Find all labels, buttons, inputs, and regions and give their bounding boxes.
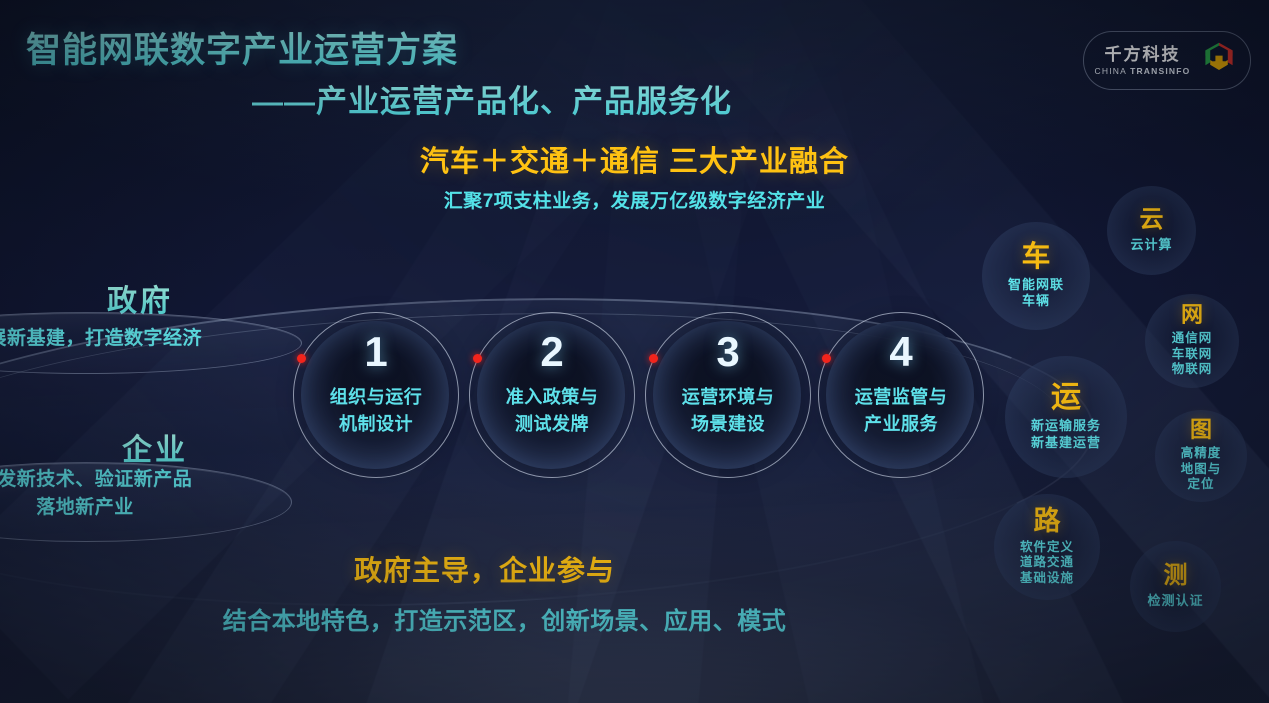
cube-logo-icon xyxy=(1199,38,1239,83)
pillar-desc-wang-line2: 车联网 xyxy=(1172,347,1213,361)
banner-headline: 汽车＋交通＋通信 三大产业融合 xyxy=(0,138,1269,180)
pill-text-enterprise-line2: 落地新产业 xyxy=(36,497,134,518)
pillar-desc-wang-line1: 通信网 xyxy=(1172,331,1213,345)
pillar-desc-tu-map-line3: 定位 xyxy=(1187,477,1214,491)
pillar-desc-tu-map-line1: 高精度 xyxy=(1181,446,1222,460)
pillar-desc-yun-transport: 新运输服务新基建运营 xyxy=(1031,418,1101,451)
pillar-desc-ce-test: 检测认证 xyxy=(1147,593,1203,609)
step-label-3: 运营环境与场景建设 xyxy=(645,384,811,438)
pillar-key-lu-road: 路 xyxy=(1034,508,1061,535)
step-label-3-line1: 运营环境与 xyxy=(682,387,775,407)
step-number-2: 2 xyxy=(469,328,635,376)
pillar-key-yun-transport: 运 xyxy=(1051,383,1081,413)
pillar-bubble-tu-map[interactable]: 图 高精度地图与定位 xyxy=(1155,410,1247,502)
pillar-desc-che: 智能网联车辆 xyxy=(1008,277,1064,310)
pillar-key-wang: 网 xyxy=(1181,304,1203,326)
pillar-bubble-yun-transport[interactable]: 运 新运输服务新基建运营 xyxy=(1005,356,1127,478)
pillar-key-ce-test: 测 xyxy=(1164,564,1188,588)
step-circle-1[interactable]: 1 组织与运行机制设计 xyxy=(293,312,459,478)
pillar-desc-yun-cloud: 云计算 xyxy=(1130,237,1172,253)
page-subtitle: ——产业运营产品化、产品服务化 xyxy=(252,76,732,121)
logo-name-en-transinfo: TRANSINFO xyxy=(1130,66,1190,76)
pillar-desc-wang-line3: 物联网 xyxy=(1172,362,1213,376)
step-circle-2[interactable]: 2 准入政策与测试发牌 xyxy=(469,312,635,478)
pillar-bubble-ce-test[interactable]: 测 检测认证 xyxy=(1130,541,1221,632)
pill-text-enterprise-line1: 研发新技术、验证新产品 xyxy=(0,469,192,490)
pillar-desc-che-line1: 智能网联 xyxy=(1008,277,1064,292)
slide-root: 智能网联数字产业运营方案 ——产业运营产品化、产品服务化 千方科技 CHINA … xyxy=(0,0,1269,703)
pillar-key-yun-cloud: 云 xyxy=(1140,208,1164,232)
step-label-1-line1: 组织与运行 xyxy=(330,387,423,407)
pillar-desc-tu-map-line2: 地图与 xyxy=(1181,462,1222,476)
step-label-3-line2: 场景建设 xyxy=(691,414,765,434)
pillar-desc-lu-road-line1: 软件定义 xyxy=(1020,540,1074,554)
pillar-bubble-lu-road[interactable]: 路 软件定义道路交通基础设施 xyxy=(994,494,1100,600)
pillar-desc-lu-road-line2: 道路交通 xyxy=(1020,555,1074,569)
step-circle-3[interactable]: 3 运营环境与场景建设 xyxy=(645,312,811,478)
footer-headline: 政府主导，企业参与 xyxy=(0,549,969,589)
step-label-4-line1: 运营监管与 xyxy=(855,387,948,407)
step-number-3: 3 xyxy=(645,328,811,376)
logo-text-block: 千方科技 CHINA TRANSINFO xyxy=(1095,46,1191,76)
logo-name-cn: 千方科技 xyxy=(1095,46,1191,63)
pill-text-government: 发展新基建，打造数字经济 xyxy=(0,325,300,353)
pillar-key-tu-map: 图 xyxy=(1190,419,1212,441)
step-label-1: 组织与运行机制设计 xyxy=(293,384,459,438)
company-logo: 千方科技 CHINA TRANSINFO xyxy=(1083,31,1251,90)
pillar-key-che: 车 xyxy=(1021,243,1050,272)
pillar-desc-lu-road-line3: 基础设施 xyxy=(1020,571,1074,585)
pillar-desc-lu-road: 软件定义道路交通基础设施 xyxy=(1020,540,1074,587)
step-label-4: 运营监管与产业服务 xyxy=(818,384,984,438)
logo-name-en: CHINA TRANSINFO xyxy=(1095,67,1191,76)
pillar-bubble-yun-cloud[interactable]: 云 云计算 xyxy=(1107,186,1196,275)
step-number-1: 1 xyxy=(293,328,459,376)
banner-subline: 汇聚7项支柱业务，发展万亿级数字经济产业 xyxy=(0,186,1269,213)
step-label-2: 准入政策与测试发牌 xyxy=(469,384,635,438)
pillar-bubble-wang[interactable]: 网 通信网车联网物联网 xyxy=(1145,294,1239,388)
pillar-desc-yun-transport-line2: 新基建运营 xyxy=(1031,435,1101,450)
step-number-4: 4 xyxy=(818,328,984,376)
pillar-desc-wang: 通信网车联网物联网 xyxy=(1172,331,1213,378)
step-circle-4[interactable]: 4 运营监管与产业服务 xyxy=(818,312,984,478)
logo-name-en-china: CHINA xyxy=(1095,66,1131,76)
pill-text-enterprise: 研发新技术、验证新产品落地新产业 xyxy=(0,466,290,521)
pillar-desc-tu-map: 高精度地图与定位 xyxy=(1181,446,1222,493)
step-label-1-line2: 机制设计 xyxy=(339,414,413,434)
pillar-desc-yun-transport-line1: 新运输服务 xyxy=(1031,418,1101,433)
pillar-desc-che-line2: 车辆 xyxy=(1022,293,1050,308)
step-label-4-line2: 产业服务 xyxy=(864,414,938,434)
step-label-2-line2: 测试发牌 xyxy=(515,414,589,434)
pillar-bubble-che[interactable]: 车 智能网联车辆 xyxy=(982,222,1090,330)
page-title: 智能网联数字产业运营方案 xyxy=(26,22,458,73)
footer-subline: 结合本地特色，打造示范区，创新场景、应用、模式 xyxy=(0,601,1009,636)
step-label-2-line1: 准入政策与 xyxy=(506,387,599,407)
